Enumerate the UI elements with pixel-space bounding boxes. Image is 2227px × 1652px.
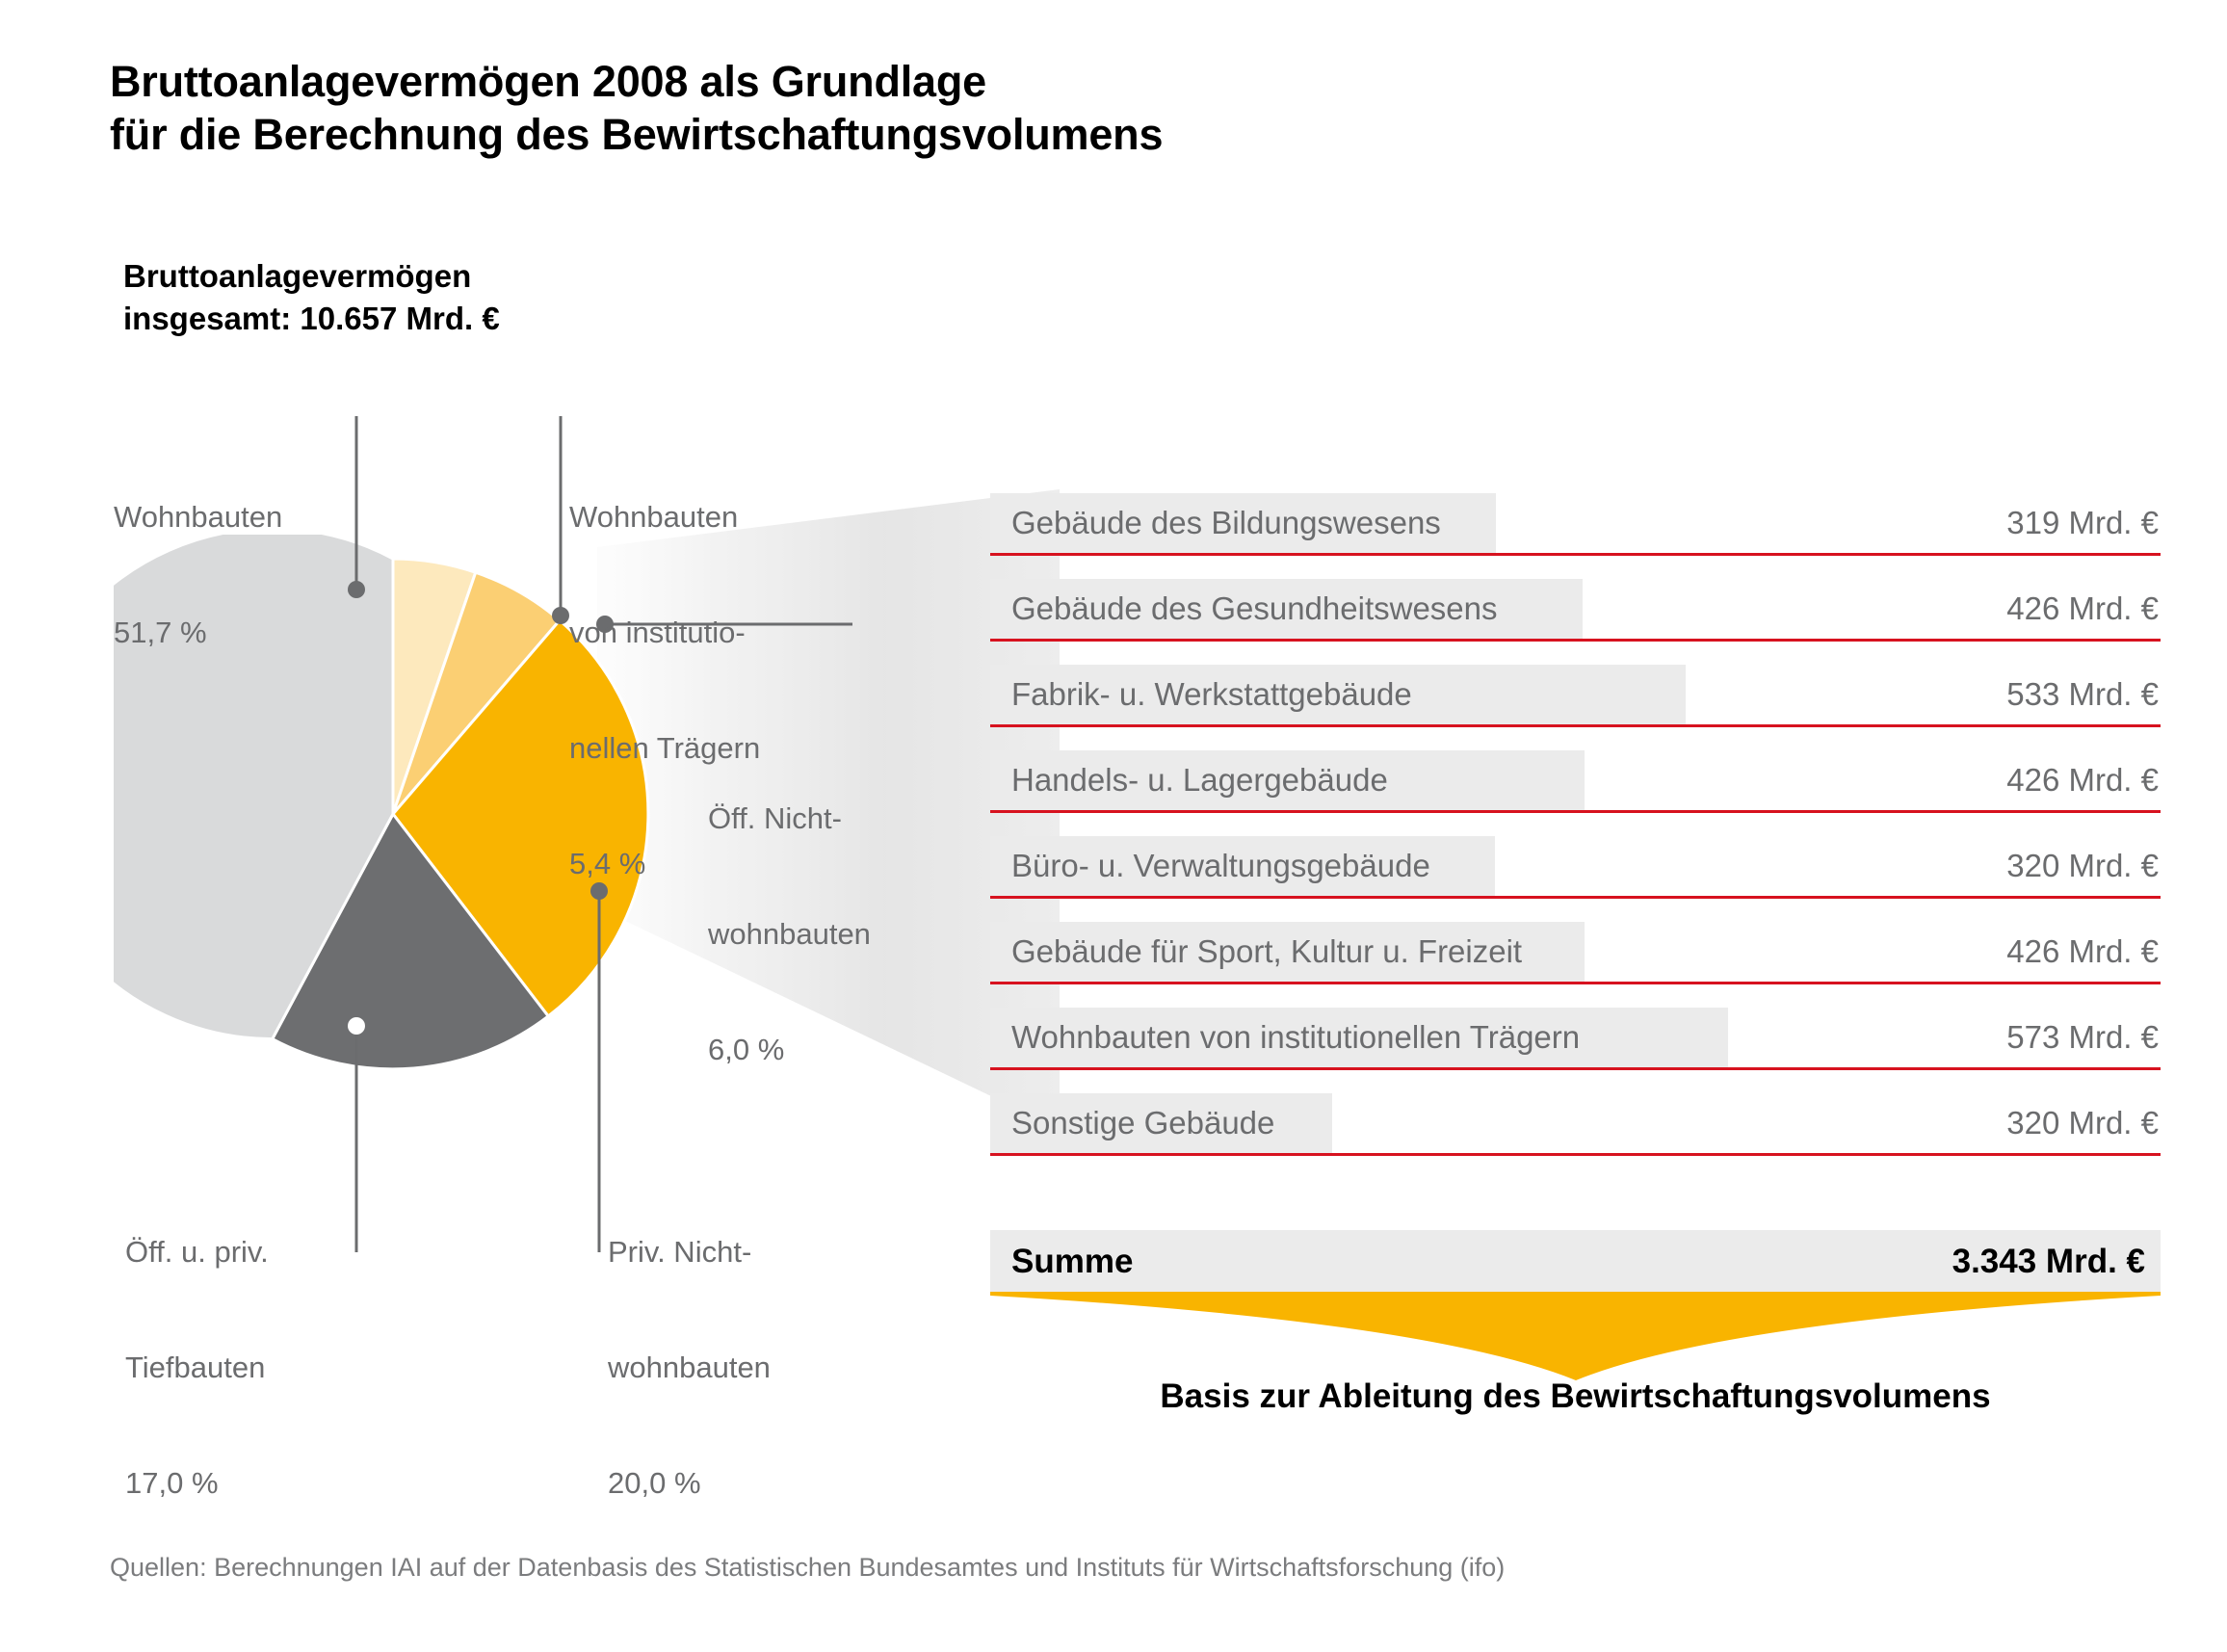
table-row-rule (990, 639, 2161, 642)
table-row-label: Fabrik- u. Werkstattgebäude (1011, 665, 1412, 724)
pie-label-priv-nichtwohnbauten: Priv. Nicht- wohnbauten 20,0 % (608, 1156, 771, 1580)
table-row: Gebäude des Bildungswesens319 Mrd. € (990, 493, 2161, 579)
pie-label-oeff-nichtwohnbauten: Öff. Nicht- wohnbauten 6,0 % (708, 722, 871, 1146)
pie-label-text: Wohnbauten (114, 498, 282, 537)
table-row: Gebäude des Gesundheitswesens426 Mrd. € (990, 579, 2161, 665)
table-row: Büro- u. Verwaltungsgebäude320 Mrd. € (990, 836, 2161, 922)
table-row: Fabrik- u. Werkstattgebäude533 Mrd. € (990, 665, 2161, 750)
table-row-label: Gebäude des Bildungswesens (1011, 493, 1441, 553)
table-row-rule (990, 896, 2161, 899)
pie-label-text: Priv. Nicht- (608, 1233, 771, 1272)
pie-label-text: wohnbauten (708, 915, 871, 954)
source-note: Quellen: Berechnungen IAI auf der Datenb… (110, 1553, 1505, 1583)
table-row-value: 533 Mrd. € (2006, 665, 2159, 724)
table-row-rule (990, 1153, 2161, 1156)
pie-label-text: Wohnbauten (569, 498, 760, 537)
infographic-canvas: Bruttoanlagevermögen 2008 als Grundlage … (0, 0, 2227, 1652)
table-row-value: 320 Mrd. € (2006, 1093, 2159, 1153)
table-row-value: 426 Mrd. € (2006, 750, 2159, 810)
pie-subtitle: Bruttoanlagevermögen insgesamt: 10.657 M… (123, 255, 740, 339)
pie-label-wohnbauten: Wohnbauten 51,7 % (114, 421, 282, 729)
table-row: Sonstige Gebäude320 Mrd. € (990, 1093, 2161, 1179)
pie-label-text: von institutio- (569, 614, 760, 652)
page-title: Bruttoanlagevermögen 2008 als Grundlage … (110, 56, 1651, 162)
table-row-label: Gebäude für Sport, Kultur u. Freizeit (1011, 922, 1522, 982)
page-title-line-2: für die Berechnung des Bewirtschaftungsv… (110, 109, 1651, 162)
pie-label-value: 20,0 % (608, 1464, 771, 1503)
page-title-line-1: Bruttoanlagevermögen 2008 als Grundlage (110, 56, 1651, 109)
table-summary-row: Summe 3.343 Mrd. € (990, 1230, 2161, 1294)
table-row-label: Sonstige Gebäude (1011, 1093, 1274, 1153)
basis-caption: Basis zur Ableitung des Bewirtschaftungs… (990, 1377, 2161, 1416)
table-row-value: 320 Mrd. € (2006, 836, 2159, 896)
pie-label-tiefbauten: Öff. u. priv. Tiefbauten 17,0 % (125, 1156, 269, 1580)
table-row-label: Gebäude des Gesundheitswesens (1011, 579, 1498, 639)
pie-label-value: 6,0 % (708, 1031, 871, 1069)
table-row-value: 319 Mrd. € (2006, 493, 2159, 553)
summary-value: 3.343 Mrd. € (1952, 1230, 2145, 1294)
table-row-value: 426 Mrd. € (2006, 922, 2159, 982)
down-arrow-shape (990, 1292, 2161, 1380)
table-row-value: 573 Mrd. € (2006, 1008, 2159, 1067)
pie-label-value: 17,0 % (125, 1464, 269, 1503)
table-row-value: 426 Mrd. € (2006, 579, 2159, 639)
table-row: Gebäude für Sport, Kultur u. Freizeit426… (990, 922, 2161, 1008)
pie-subtitle-line-1: Bruttoanlagevermögen (123, 255, 740, 298)
building-stock-table: Gebäude des Bildungswesens319 Mrd. €Gebä… (990, 493, 2161, 1179)
summary-label: Summe (1011, 1230, 1133, 1294)
pie-label-text: wohnbauten (608, 1349, 771, 1387)
pie-label-value: 51,7 % (114, 614, 282, 652)
table-row-rule (990, 810, 2161, 813)
pie-label-text: Tiefbauten (125, 1349, 269, 1387)
pie-label-text: Öff. u. priv. (125, 1233, 269, 1272)
table-row-label: Büro- u. Verwaltungsgebäude (1011, 836, 1430, 896)
table-row-rule (990, 1067, 2161, 1070)
pie-label-text: Öff. Nicht- (708, 800, 871, 838)
table-row: Handels- u. Lagergebäude426 Mrd. € (990, 750, 2161, 836)
table-row-rule (990, 724, 2161, 727)
pie-subtitle-line-2: insgesamt: 10.657 Mrd. € (123, 298, 740, 340)
table-row-label: Handels- u. Lagergebäude (1011, 750, 1388, 810)
table-row-label: Wohnbauten von institutionellen Trägern (1011, 1008, 1580, 1067)
table-row: Wohnbauten von institutionellen Trägern5… (990, 1008, 2161, 1093)
table-row-rule (990, 982, 2161, 984)
table-row-rule (990, 553, 2161, 556)
